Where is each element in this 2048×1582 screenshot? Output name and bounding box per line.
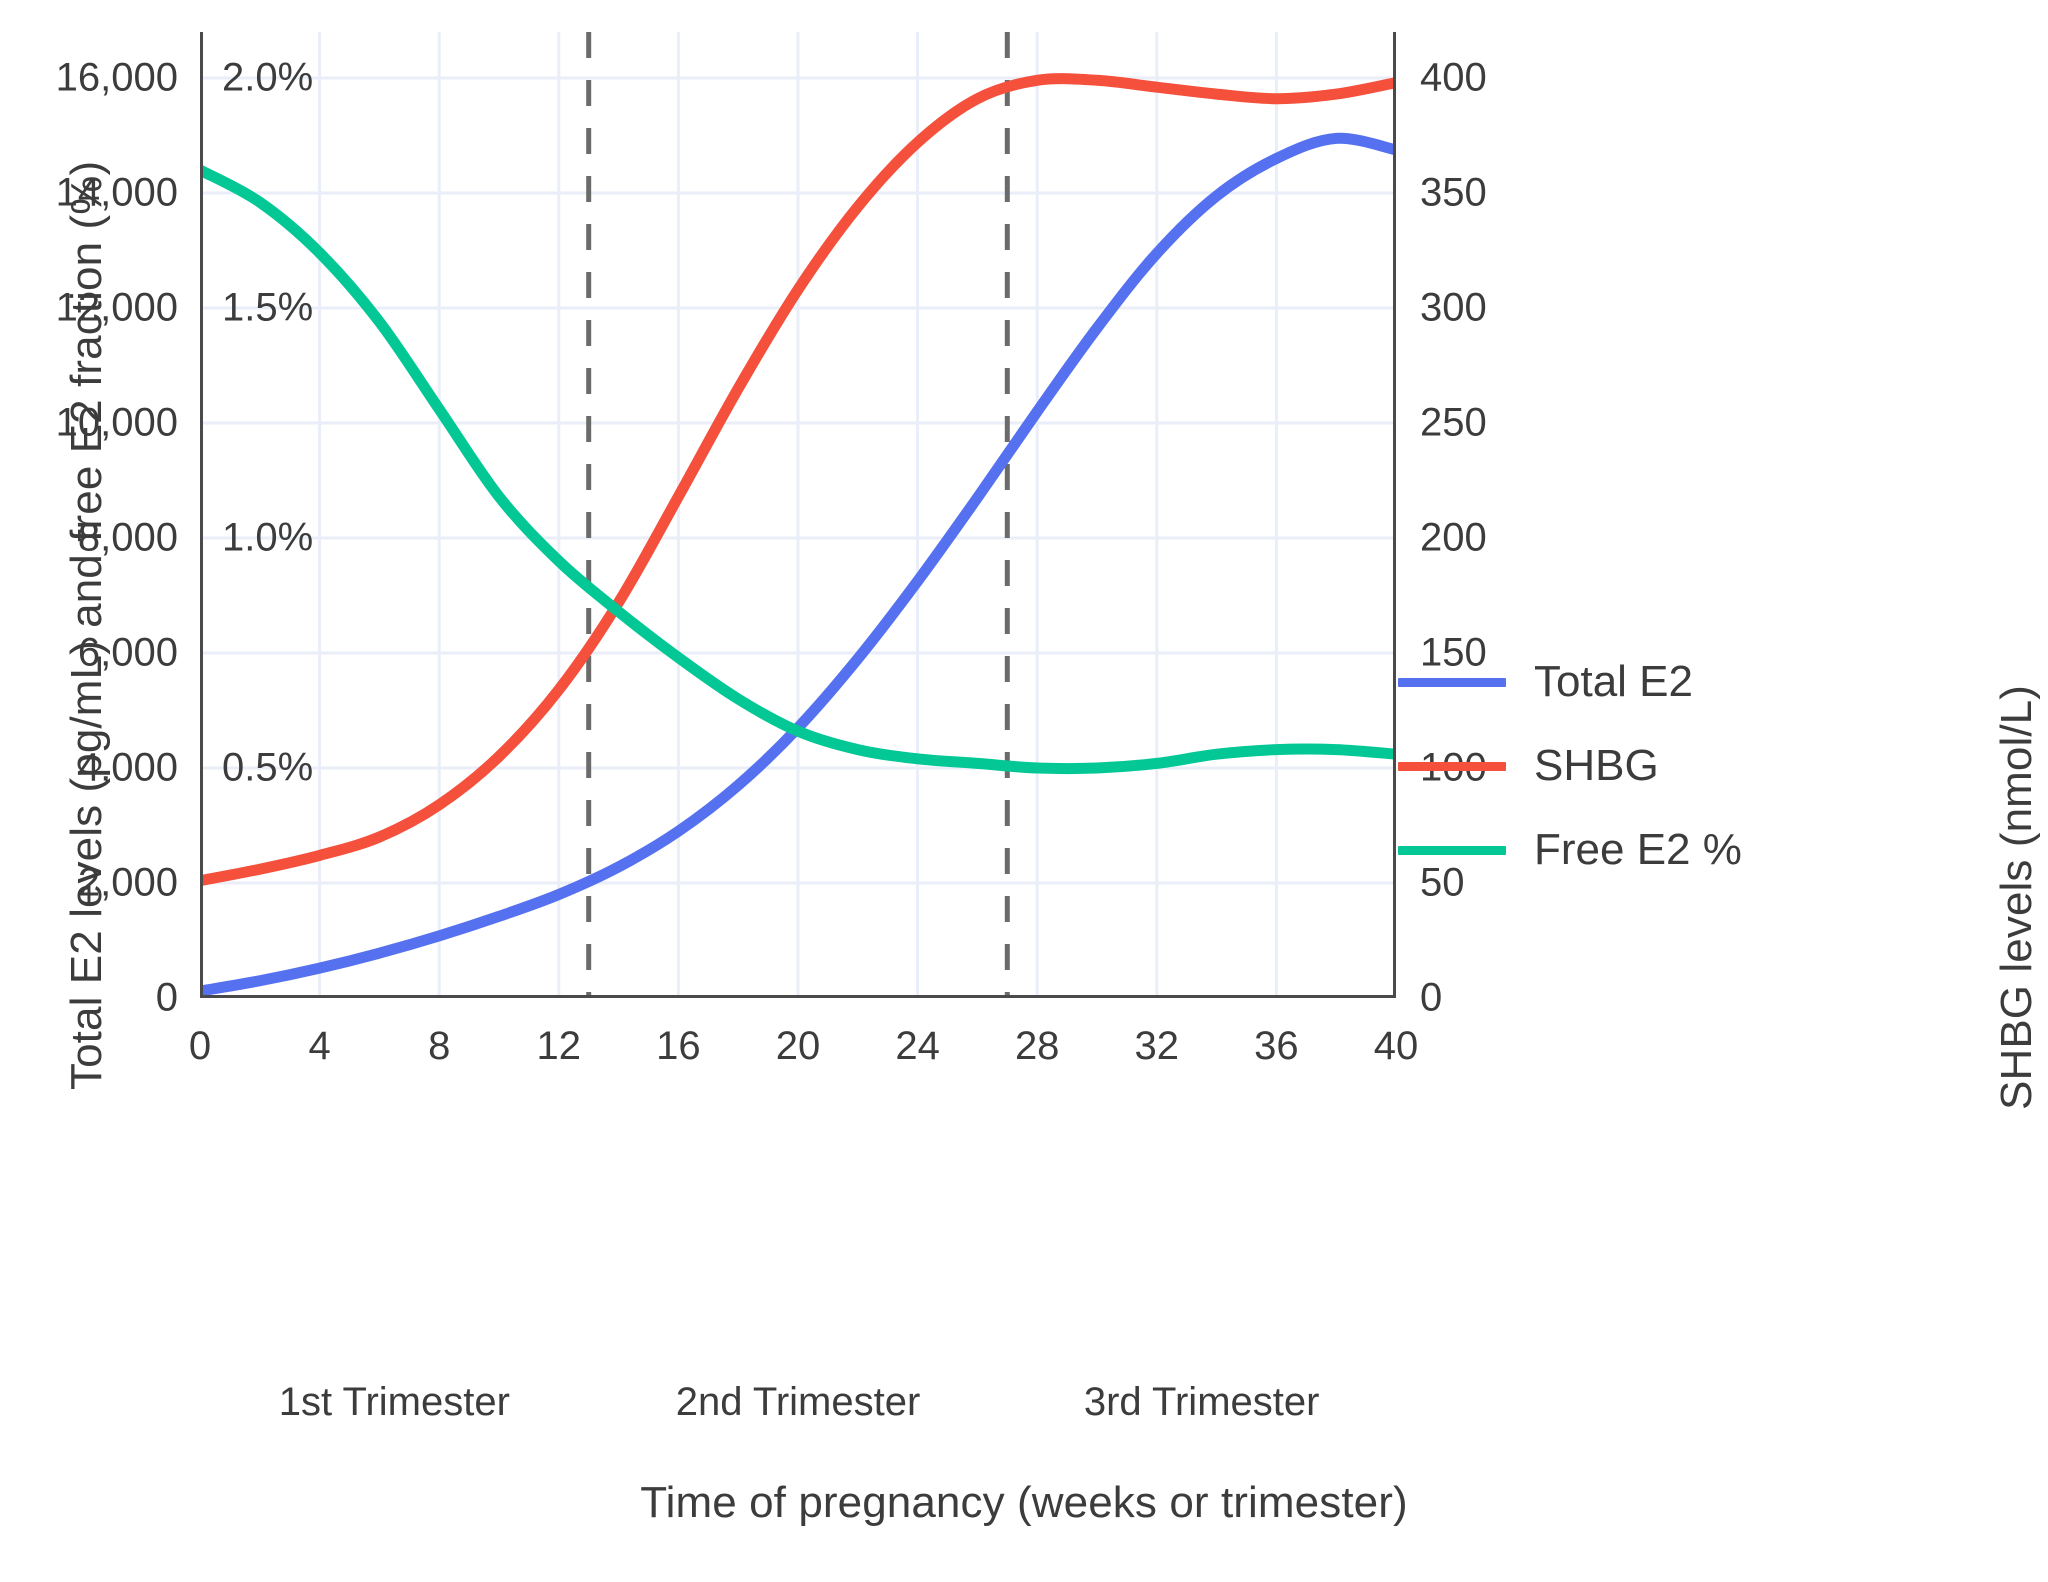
legend-item-free-e2[interactable]: Free E2 % bbox=[1398, 808, 1742, 892]
legend-label-free-e2: Free E2 % bbox=[1534, 825, 1742, 875]
y-tick-left-6000: 6,000 bbox=[0, 631, 178, 676]
x-tick-16: 16 bbox=[656, 1024, 701, 1069]
legend-item-total-e2[interactable]: Total E2 bbox=[1398, 640, 1742, 724]
y-tick-right-0: 0 bbox=[1420, 976, 1442, 1021]
y-tick-left-0: 0 bbox=[0, 976, 178, 1021]
chart-figure: Total E2 levels (pg/mL) and free E2 frac… bbox=[0, 0, 2048, 1582]
x-tick-8: 8 bbox=[428, 1024, 450, 1069]
percent-axis-label-1-5: 1.5% bbox=[222, 286, 313, 331]
percent-axis-label-0-5: 0.5% bbox=[222, 746, 313, 791]
y-axis-right-title: SHBG levels (nmol/L) bbox=[1992, 330, 2042, 1110]
y-tick-right-250: 250 bbox=[1420, 401, 1487, 446]
x-tick-20: 20 bbox=[776, 1024, 821, 1069]
trimester-label-1: 1st Trimester bbox=[279, 1380, 510, 1425]
x-tick-32: 32 bbox=[1135, 1024, 1180, 1069]
x-tick-0: 0 bbox=[189, 1024, 211, 1069]
y-tick-right-350: 350 bbox=[1420, 171, 1487, 216]
legend-swatch-free-e2 bbox=[1398, 846, 1506, 855]
legend-swatch-shbg bbox=[1398, 762, 1506, 771]
trimester-label-2: 2nd Trimester bbox=[676, 1380, 921, 1425]
y-tick-left-4000: 4,000 bbox=[0, 746, 178, 791]
plot-canvas bbox=[200, 32, 1396, 998]
y-tick-left-14000: 14,000 bbox=[0, 171, 178, 216]
y-tick-right-200: 200 bbox=[1420, 516, 1487, 561]
x-axis-title: Time of pregnancy (weeks or trimester) bbox=[0, 1478, 2048, 1528]
x-tick-12: 12 bbox=[537, 1024, 582, 1069]
x-tick-4: 4 bbox=[308, 1024, 330, 1069]
y-tick-left-10000: 10,000 bbox=[0, 401, 178, 446]
x-tick-40: 40 bbox=[1374, 1024, 1419, 1069]
x-tick-28: 28 bbox=[1015, 1024, 1060, 1069]
y-tick-left-16000: 16,000 bbox=[0, 56, 178, 101]
plot-area bbox=[200, 32, 1396, 998]
legend-swatch-total-e2 bbox=[1398, 678, 1506, 687]
x-tick-36: 36 bbox=[1254, 1024, 1299, 1069]
gridlines bbox=[200, 32, 1396, 998]
legend-label-total-e2: Total E2 bbox=[1534, 657, 1693, 707]
y-tick-left-8000: 8,000 bbox=[0, 516, 178, 561]
trimester-label-3: 3rd Trimester bbox=[1084, 1380, 1320, 1425]
x-tick-24: 24 bbox=[895, 1024, 940, 1069]
y-tick-right-400: 400 bbox=[1420, 56, 1487, 101]
y-tick-right-300: 300 bbox=[1420, 286, 1487, 331]
percent-axis-label-1: 1.0% bbox=[222, 516, 313, 561]
chart-legend: Total E2SHBGFree E2 % bbox=[1398, 640, 1742, 892]
y-tick-left-12000: 12,000 bbox=[0, 286, 178, 331]
percent-axis-label-2: 2.0% bbox=[222, 56, 313, 101]
legend-item-shbg[interactable]: SHBG bbox=[1398, 724, 1742, 808]
legend-label-shbg: SHBG bbox=[1534, 741, 1659, 791]
y-tick-left-2000: 2,000 bbox=[0, 861, 178, 906]
